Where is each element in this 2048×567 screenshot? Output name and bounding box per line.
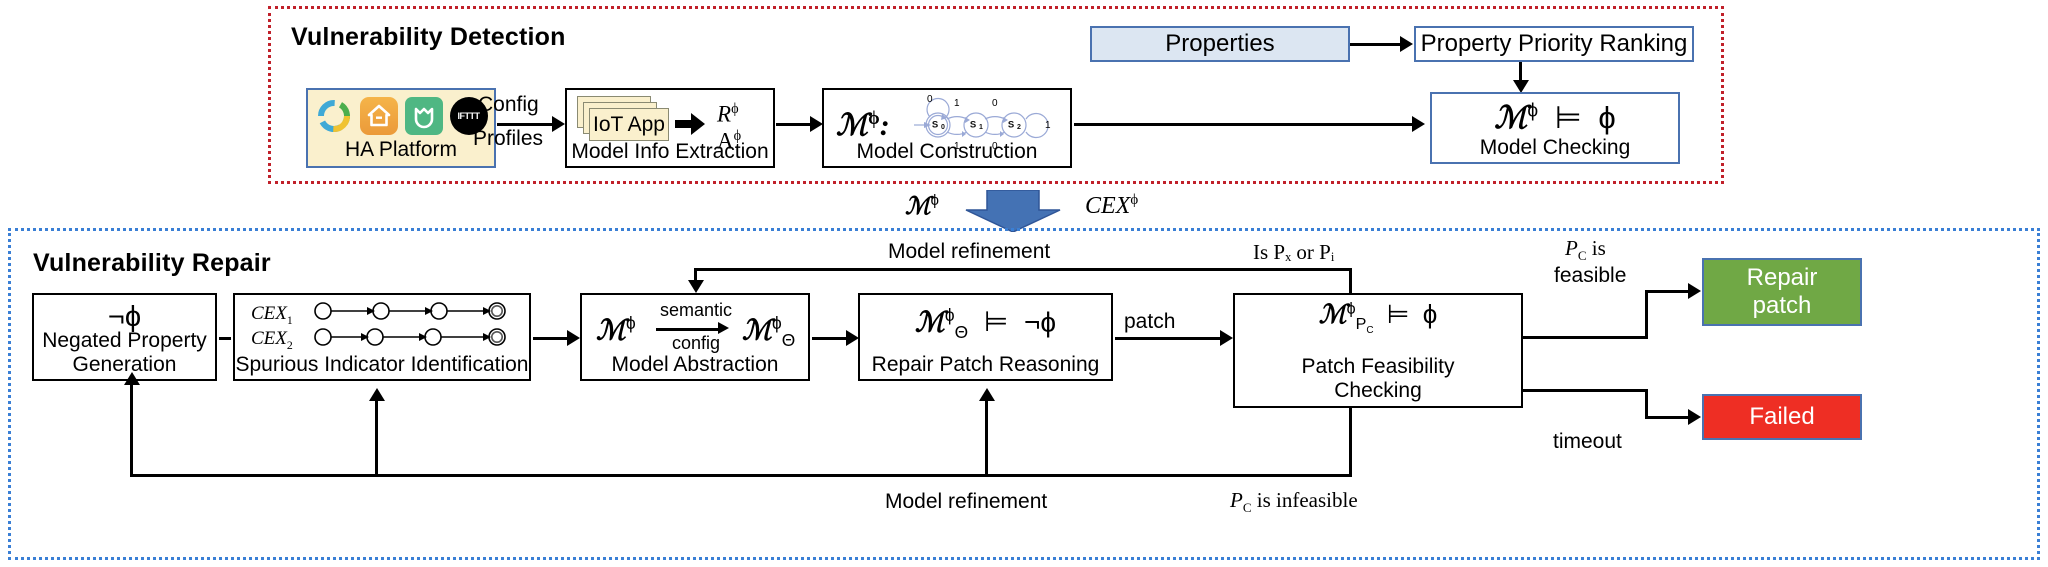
pc-feasible-P: P xyxy=(1565,236,1578,260)
repair-patch-label-1: Repair xyxy=(1747,264,1818,292)
arrow-line-reasoning-to-feasibility xyxy=(1115,337,1225,340)
fail-arrow-head xyxy=(1688,409,1701,425)
arrow-line-abstraction-to-reasoning xyxy=(812,337,850,340)
model-abstraction-box[interactable]: ℳϕ semantic config ℳϕΘ Model Abstraction xyxy=(580,293,810,381)
abstraction-M-out-sup: ϕ xyxy=(772,313,782,333)
reasoning-M: ℳ xyxy=(915,307,945,338)
big-blue-down-arrow xyxy=(965,190,1061,232)
detection-title: Vulnerability Detection xyxy=(291,23,566,52)
pc-infeasible-sub: C xyxy=(1243,500,1252,515)
pc-feasible-is: is xyxy=(1587,236,1606,260)
refinement-bottom-arrow-head-mid xyxy=(979,388,995,401)
reasoning-neg-phi: ¬ϕ xyxy=(1024,306,1056,337)
model-info-extraction-box[interactable]: IoT App Rϕ Aϕ Model Info Extraction xyxy=(565,88,775,168)
edge-label-model-refinement-top: Model refinement xyxy=(888,240,1050,264)
extraction-R-sup: ϕ xyxy=(731,101,739,117)
feasibility-caption-1: Patch Feasibility xyxy=(1235,355,1521,379)
negated-caption-1: Negated Property xyxy=(34,329,215,353)
success-vline xyxy=(1645,292,1648,338)
svg-text:1: 1 xyxy=(954,98,960,109)
smartthings-icon xyxy=(315,97,353,135)
svg-text:0: 0 xyxy=(927,94,933,105)
negated-property-box[interactable]: ¬ϕ Negated Property Generation xyxy=(32,293,217,381)
transition-M: ℳ xyxy=(905,194,931,220)
refinement-bottom-vline-left xyxy=(130,383,133,476)
patch-feasibility-box[interactable]: ℳϕPC ⊨ ϕ Patch Feasibility Checking xyxy=(1233,293,1523,408)
pc-infeasible-text: is infeasible xyxy=(1252,488,1358,512)
arrow-line-extraction-to-construction xyxy=(776,123,814,126)
feasibility-M-sub: P xyxy=(1356,315,1367,333)
cex1-sub: 1 xyxy=(287,314,293,327)
repair-title: Vulnerability Repair xyxy=(33,249,271,278)
refinement-bottom-vline-right xyxy=(1349,408,1352,476)
refinement-bottom-vline-mid xyxy=(985,400,988,476)
abstraction-M-in-sup: ϕ xyxy=(626,313,636,333)
edge-label-profiles: Profiles xyxy=(473,127,543,151)
success-arrow-head xyxy=(1688,283,1701,299)
checking-models-symbol: ⊨ xyxy=(1555,100,1582,135)
cex1-text: CEX xyxy=(251,303,287,324)
construction-M-sup: ϕ xyxy=(868,108,880,129)
transition-M-sup: ϕ xyxy=(931,193,939,209)
feasibility-formula: ℳϕPC ⊨ ϕ xyxy=(1235,299,1521,336)
feasibility-models-symbol: ⊨ xyxy=(1387,299,1410,329)
home-assistant-icon xyxy=(360,97,398,135)
iot-app-card: IoT App xyxy=(589,108,669,141)
construction-colon: : xyxy=(880,109,890,142)
arrow-head-platform-to-extraction xyxy=(552,116,565,132)
feasibility-phi: ϕ xyxy=(1423,299,1438,329)
edge-label-config: Config xyxy=(478,93,539,117)
repair-patch-label-2: patch xyxy=(1747,292,1818,320)
cex2-sub: 2 xyxy=(287,339,293,352)
construction-model-label: ℳϕ: xyxy=(836,108,890,143)
iot-app-label: IoT App xyxy=(593,113,665,137)
cex-traces-diagram xyxy=(313,300,525,352)
checking-caption: Model Checking xyxy=(1432,136,1678,160)
properties-label: Properties xyxy=(1165,30,1274,58)
checking-phi: ϕ xyxy=(1598,100,1615,135)
transition-label-model: ℳϕ xyxy=(905,192,939,221)
svg-text:1: 1 xyxy=(1045,120,1051,131)
repair-patch-result-box[interactable]: Repair patch xyxy=(1702,258,1862,326)
edge-label-pc-feasible-1: PC is xyxy=(1565,236,1606,264)
extraction-caption: Model Info Extraction xyxy=(567,140,773,164)
edge-label-patch: patch xyxy=(1124,310,1175,334)
fail-vline xyxy=(1645,389,1648,418)
refinement-bottom-vline-spurious xyxy=(375,400,378,476)
abstraction-arrow-line xyxy=(656,328,722,331)
cex1-label: CEX1 xyxy=(251,303,293,328)
repair-patch-reasoning-box[interactable]: ℳϕΘ ⊨ ¬ϕ Repair Patch Reasoning xyxy=(858,293,1113,381)
refinement-top-vline-right xyxy=(1349,270,1352,294)
pc-infeasible-P: P xyxy=(1230,488,1243,512)
abstraction-output-model: ℳϕΘ xyxy=(742,313,795,351)
arrow-head-spurious-to-abstraction xyxy=(567,330,580,346)
svg-text:1: 1 xyxy=(979,124,983,131)
cex2-text: CEX xyxy=(251,328,287,349)
edge-label-timeout: timeout xyxy=(1553,430,1622,454)
construction-M: ℳ xyxy=(836,109,868,142)
model-checking-box[interactable]: ℳϕ ⊨ ϕ Model Checking xyxy=(1430,92,1680,164)
property-priority-ranking-box[interactable]: Property Priority Ranking xyxy=(1414,26,1694,62)
edge-label-pc-infeasible: PC is infeasible xyxy=(1230,488,1358,516)
transition-CEX-sup: ϕ xyxy=(1130,192,1138,208)
edge-label-is-px-or-pi: Is Pₓ or Pᵢ xyxy=(1253,240,1334,265)
success-hline-1 xyxy=(1523,336,1648,339)
arrow-head-construction-to-checking xyxy=(1412,116,1425,132)
ifttt-label: IFTTT xyxy=(458,111,480,121)
pc-feasible-sub: C xyxy=(1578,248,1587,263)
model-construction-box[interactable]: ℳϕ: S0 S1 S2 0 xyxy=(822,88,1072,168)
failed-label: Failed xyxy=(1749,403,1814,431)
fail-hline-1 xyxy=(1523,389,1648,392)
svg-text:S: S xyxy=(1008,120,1014,131)
reasoning-M-sup: ϕ xyxy=(945,305,955,325)
svg-text:S: S xyxy=(970,120,976,131)
arrow-line-construction-to-checking xyxy=(1074,123,1416,126)
ha-platform-box[interactable]: IFTTT HA Platform xyxy=(306,88,496,168)
refinement-bottom-hline xyxy=(130,474,1352,477)
cex2-label: CEX2 xyxy=(251,328,293,353)
feasibility-M-sub-group: PC xyxy=(1356,315,1374,333)
reasoning-caption: Repair Patch Reasoning xyxy=(860,353,1111,377)
mi-home-icon xyxy=(405,97,443,135)
refinement-bottom-arrow-head-left xyxy=(124,372,140,385)
reasoning-formula: ℳϕΘ ⊨ ¬ϕ xyxy=(860,305,1111,343)
ha-platform-label: HA Platform xyxy=(308,138,494,162)
svg-text:0: 0 xyxy=(992,98,998,109)
svg-text:2: 2 xyxy=(1017,124,1021,131)
reasoning-models-symbol: ⊨ xyxy=(984,306,1008,337)
feasibility-M: ℳ xyxy=(1319,300,1347,329)
refinement-top-hline xyxy=(694,268,1352,271)
abstraction-M-out: ℳ xyxy=(742,315,772,346)
arrow-head-reasoning-to-feasibility xyxy=(1220,330,1233,346)
abstraction-M-out-sub: Θ xyxy=(782,330,796,350)
fail-hline-2 xyxy=(1645,416,1693,419)
abstraction-input-model: ℳϕ xyxy=(596,313,636,347)
svg-text:0: 0 xyxy=(941,124,945,131)
arrow-line-properties-to-ranking xyxy=(1350,43,1405,46)
abstraction-M-in: ℳ xyxy=(596,315,626,346)
transition-label-cex: CEXϕ xyxy=(1085,192,1138,220)
success-hline-2 xyxy=(1645,290,1693,293)
abstraction-arrow-bottom-label: config xyxy=(654,333,738,354)
arrow-line-negated-to-spurious xyxy=(219,337,231,340)
feasibility-caption-2: Checking xyxy=(1235,379,1521,403)
refinement-top-arrow-head xyxy=(688,280,704,293)
checking-M-sup: ϕ xyxy=(1527,101,1538,122)
spurious-indicator-box[interactable]: CEX1 CEX2 Spurious Indicator Identificat… xyxy=(233,293,531,381)
edge-label-pc-feasible-2: feasible xyxy=(1554,264,1626,288)
failed-result-box[interactable]: Failed xyxy=(1702,394,1862,440)
arrow-head-properties-to-ranking xyxy=(1400,36,1413,52)
checking-M: ℳ xyxy=(1494,100,1527,135)
properties-box[interactable]: Properties xyxy=(1090,26,1350,62)
ranking-label: Property Priority Ranking xyxy=(1421,30,1688,58)
abstraction-arrow-top-label: semantic xyxy=(654,300,738,321)
arrow-line-platform-to-extraction xyxy=(497,123,557,126)
refinement-bottom-arrow-head-spurious xyxy=(369,388,385,401)
thick-arrow-icon xyxy=(675,113,705,135)
arrow-line-spurious-to-abstraction xyxy=(533,337,571,340)
extraction-output-R: Rϕ xyxy=(717,101,739,128)
reasoning-M-sub: Θ xyxy=(955,322,969,342)
spurious-caption: Spurious Indicator Identification xyxy=(235,353,529,377)
platform-icons-row: IFTTT xyxy=(308,97,494,135)
checking-formula: ℳϕ ⊨ ϕ xyxy=(1432,100,1678,136)
svg-text:S: S xyxy=(932,120,938,131)
construction-caption: Model Construction xyxy=(824,140,1070,164)
feasibility-M-sup: ϕ xyxy=(1347,299,1356,317)
extraction-R-label: R xyxy=(717,102,731,127)
feasibility-M-sub2: C xyxy=(1366,325,1373,336)
edge-label-model-refinement-bottom: Model refinement xyxy=(885,490,1047,514)
transition-CEX: CEX xyxy=(1085,193,1130,219)
abstraction-caption: Model Abstraction xyxy=(582,353,808,377)
